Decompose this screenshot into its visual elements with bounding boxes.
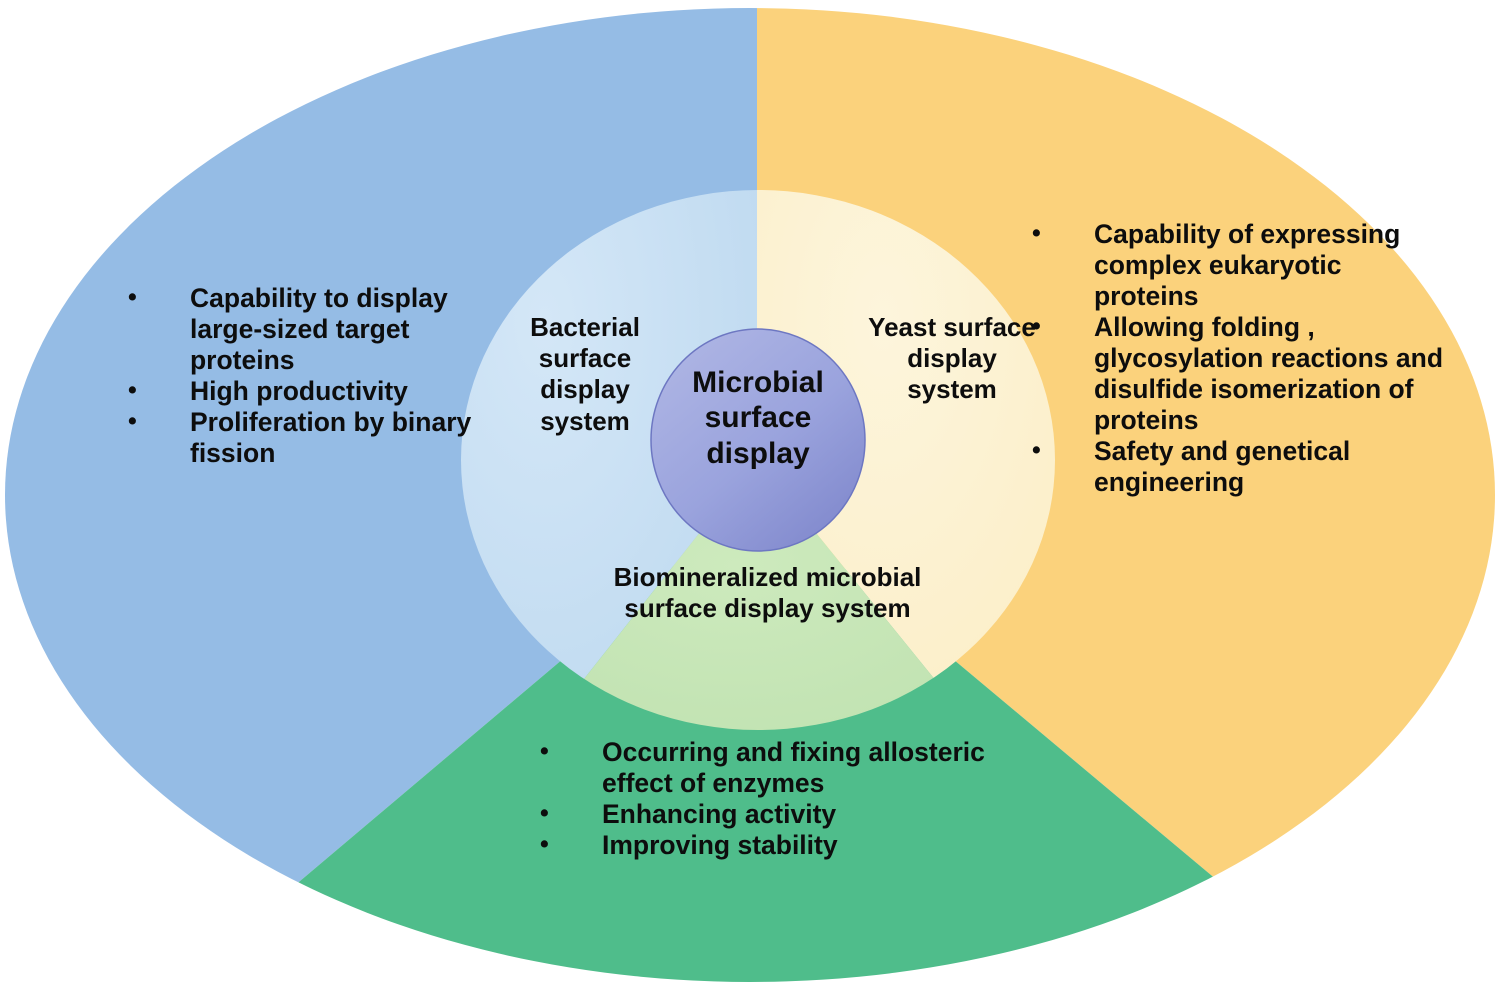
list-item: • Occurring and fixing allosteric effect… xyxy=(540,737,1040,799)
ring-label-yeast: Yeast surface display system xyxy=(862,312,1042,406)
bullet-marker-icon: • xyxy=(540,830,602,859)
bullet-marker-icon: • xyxy=(1032,219,1094,248)
bullet-marker-icon: • xyxy=(128,376,190,405)
bullet-marker-icon: • xyxy=(128,283,190,312)
bullet-marker-icon: • xyxy=(1032,312,1094,341)
list-item: • Allowing folding , glycosylation react… xyxy=(1032,312,1452,436)
diagram-canvas: Microbial surface display Bacterial surf… xyxy=(0,0,1500,990)
bullet-marker-icon: • xyxy=(128,407,190,436)
list-item: • Enhancing activity xyxy=(540,799,1040,830)
list-item: • Proliferation by binary fission xyxy=(128,407,518,469)
list-item: • Capability of expressing complex eukar… xyxy=(1032,219,1452,312)
list-item: • Safety and genetical engineering xyxy=(1032,436,1452,498)
bullet-list-bacterial: • Capability to display large-sized targ… xyxy=(128,283,518,469)
bullet-marker-icon: • xyxy=(540,799,602,828)
bullet-text: High productivity xyxy=(190,376,518,407)
list-item: • Capability to display large-sized targ… xyxy=(128,283,518,376)
bullet-marker-icon: • xyxy=(1032,436,1094,465)
bullet-text: Safety and genetical engineering xyxy=(1094,436,1452,498)
bullet-list-yeast: • Capability of expressing complex eukar… xyxy=(1032,219,1452,498)
bullet-text: Capability to display large-sized target… xyxy=(190,283,518,376)
bullet-text: Enhancing activity xyxy=(602,799,1040,830)
ring-label-biomineralized: Biomineralized microbial surface display… xyxy=(595,562,940,624)
bullet-text: Capability of expressing complex eukaryo… xyxy=(1094,219,1452,312)
bullet-text: Allowing folding , glycosylation reactio… xyxy=(1094,312,1452,436)
list-item: • High productivity xyxy=(128,376,518,407)
center-label: Microbial surface display xyxy=(653,365,863,471)
bullet-text: Proliferation by binary fission xyxy=(190,407,518,469)
bullet-list-biomineralized: • Occurring and fixing allosteric effect… xyxy=(540,737,1040,861)
bullet-text: Improving stability xyxy=(602,830,1040,861)
bullet-marker-icon: • xyxy=(540,737,602,766)
list-item: • Improving stability xyxy=(540,830,1040,861)
ring-label-bacterial: Bacterial surface display system xyxy=(495,312,675,437)
bullet-text: Occurring and fixing allosteric effect o… xyxy=(602,737,1040,799)
